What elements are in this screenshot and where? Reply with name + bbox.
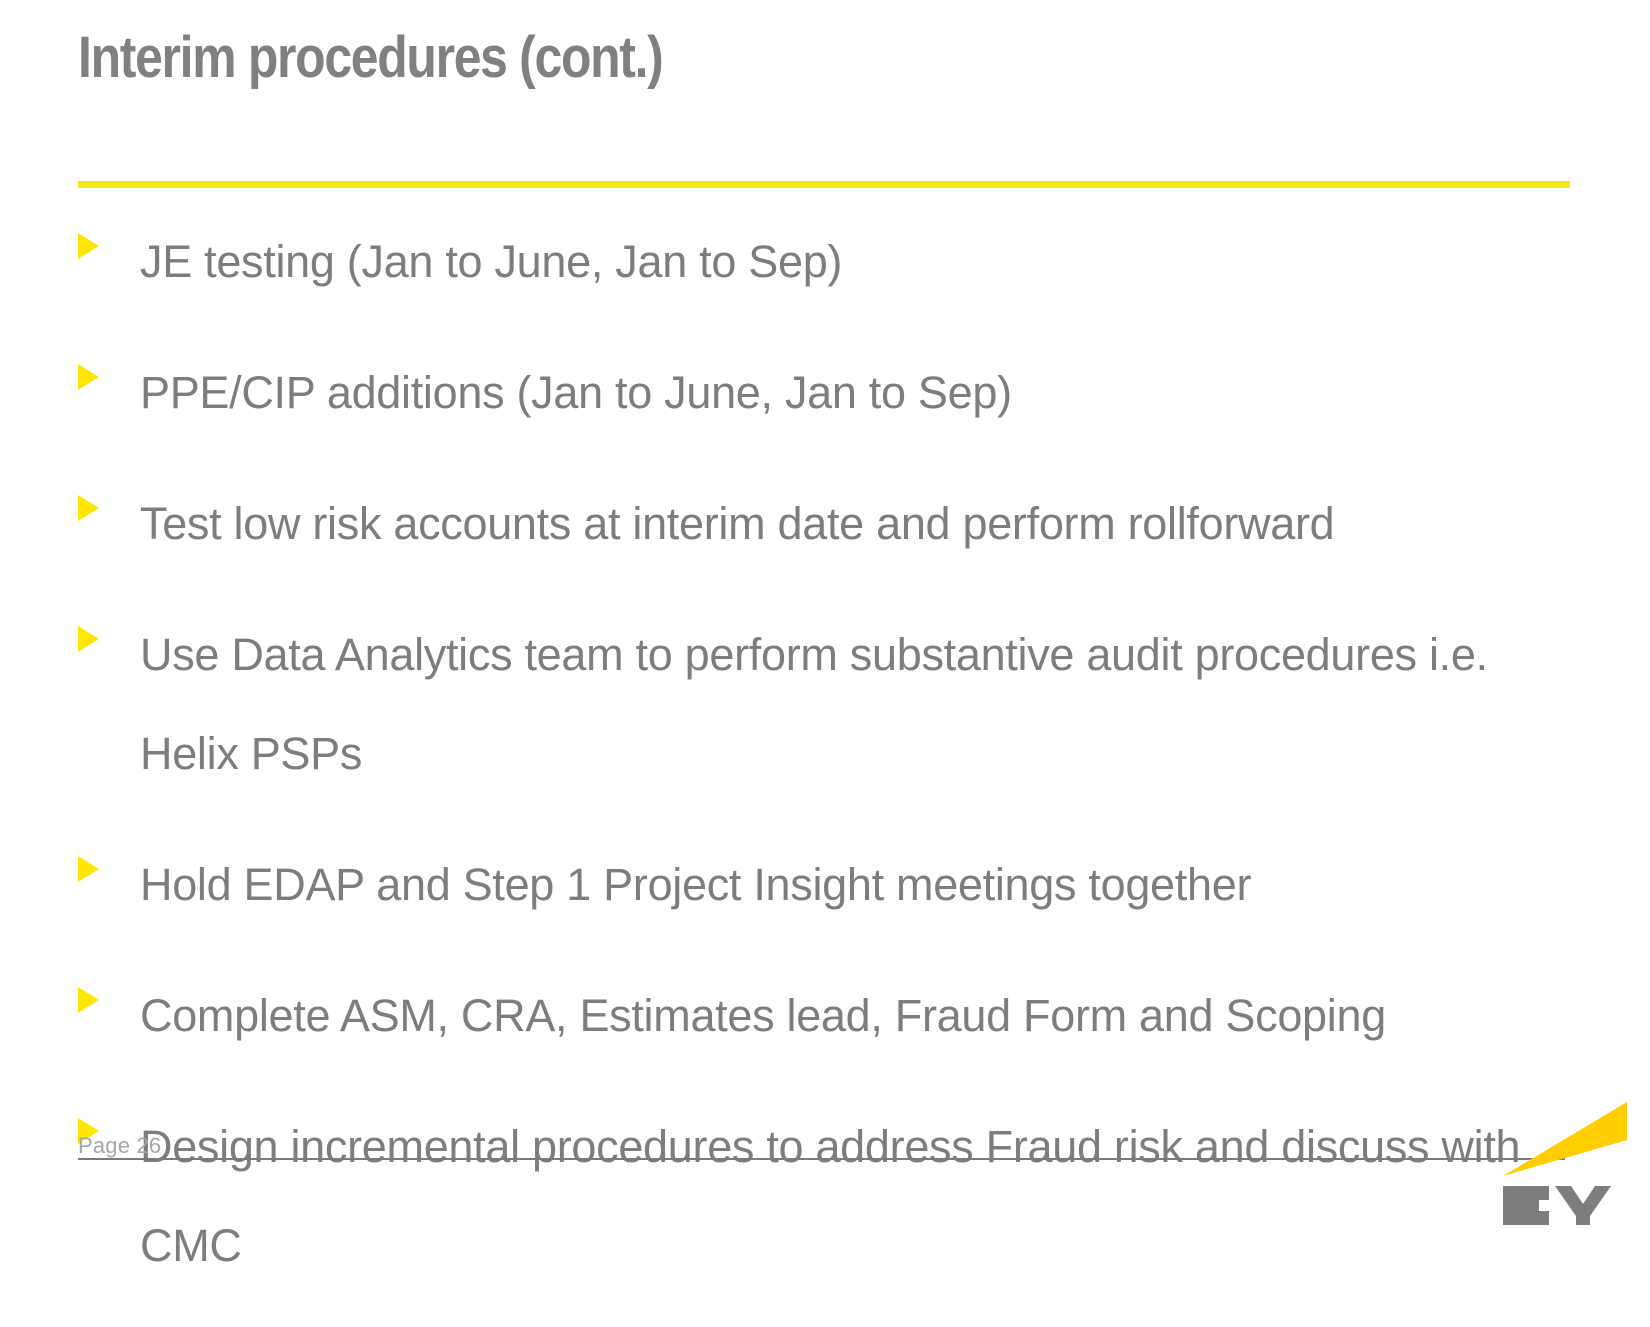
list-item: JE testing (Jan to June, Jan to Sep) [78, 212, 1578, 311]
list-item-label: Use Data Analytics team to perform subst… [140, 605, 1578, 803]
triangle-right-icon [78, 212, 140, 259]
slide-canvas: Interim procedures (cont.) JE testing (J… [0, 0, 1650, 1275]
list-item: Hold EDAP and Step 1 Project Insight mee… [78, 835, 1578, 934]
footer-divider-rule [78, 1158, 1565, 1160]
list-item: Complete ASM, CRA, Estimates lead, Fraud… [78, 966, 1578, 1065]
page-title: Interim procedures (cont.) [78, 26, 1351, 90]
list-item-label: Test low risk accounts at interim date a… [140, 474, 1578, 573]
page-number: Page 26 [78, 1133, 161, 1159]
list-item: PPE/CIP additions (Jan to June, Jan to S… [78, 343, 1578, 442]
list-item-label: Complete ASM, CRA, Estimates lead, Fraud… [140, 966, 1578, 1065]
triangle-right-icon [78, 835, 140, 882]
list-item: Use Data Analytics team to perform subst… [78, 605, 1578, 803]
triangle-right-icon [78, 474, 140, 521]
triangle-right-icon [78, 966, 140, 1013]
triangle-right-icon [78, 343, 140, 390]
list-item-label: PPE/CIP additions (Jan to June, Jan to S… [140, 343, 1578, 442]
title-divider-rule [78, 181, 1570, 188]
list-item: Design incremental procedures to address… [78, 1097, 1578, 1295]
list-item-label: Hold EDAP and Step 1 Project Insight mee… [140, 835, 1578, 934]
triangle-right-icon [78, 605, 140, 652]
list-item-label: Design incremental procedures to address… [140, 1097, 1578, 1295]
list-item: Test low risk accounts at interim date a… [78, 474, 1578, 573]
list-item-label: JE testing (Jan to June, Jan to Sep) [140, 212, 1578, 311]
ey-logo [1497, 1100, 1627, 1225]
